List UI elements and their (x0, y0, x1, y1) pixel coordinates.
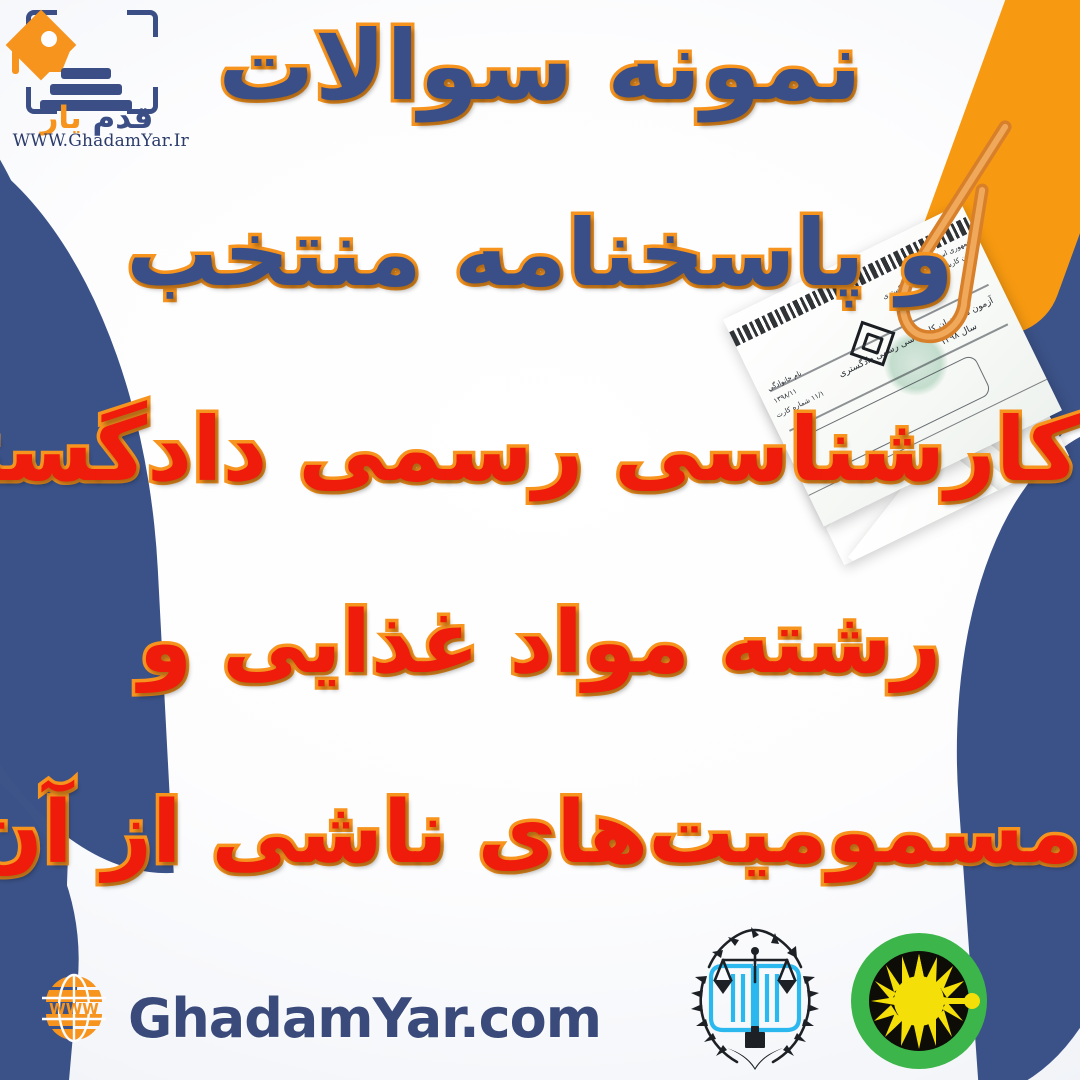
headline-line-2: و پاسخنامه منتخب (0, 208, 1080, 300)
headline-line-5: مسمومیت‌های ناشی از آن (0, 790, 1080, 876)
globe-www-label: WWW (49, 1000, 99, 1018)
footer-bar: WWW GhadamYar.com (0, 930, 1080, 1080)
poster-canvas: جمهوری اسلامی ایران کانون کارشناسان رسمی… (0, 0, 1080, 1080)
justice-scales-emblem (675, 922, 835, 1074)
headline-line-4: رشته مواد غذایی و (0, 600, 1080, 686)
headline-block: نمونه سوالات و پاسخنامه منتخب کارشناسی ر… (0, 0, 1080, 930)
headline-line-3: کارشناسی رسمی دادگستری (0, 406, 1080, 494)
green-sun-emblem (848, 930, 990, 1072)
headline-line-1: نمونه سوالات (0, 18, 1080, 114)
footer-site-url[interactable]: GhadamYar.com (128, 987, 601, 1050)
www-globe-icon: WWW (38, 972, 110, 1044)
